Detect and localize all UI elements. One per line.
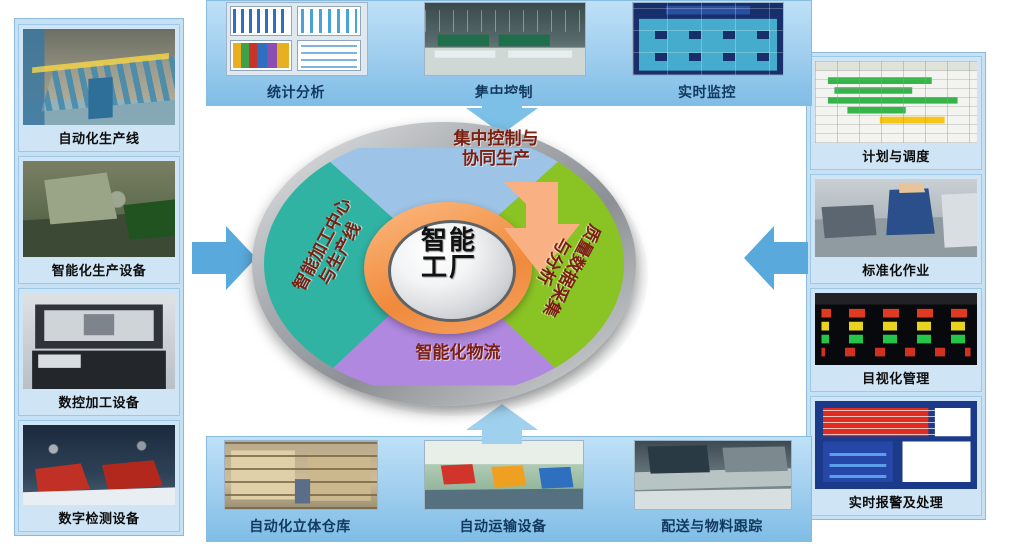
cnc-machine-icon bbox=[23, 293, 175, 389]
arrow-left-icon bbox=[744, 222, 808, 294]
dashboard-charts-icon bbox=[226, 2, 368, 76]
arrow-right-icon bbox=[192, 222, 256, 294]
right-panel-2-caption: 目视化管理 bbox=[815, 365, 977, 391]
bottom-panel-0[interactable]: 自动化立体仓库 bbox=[224, 440, 376, 538]
andon-board-icon bbox=[815, 293, 977, 365]
smart-equipment-icon bbox=[23, 161, 175, 257]
top-panel-2-caption: 实时监控 bbox=[632, 76, 782, 106]
right-panel-1-caption: 标准化作业 bbox=[815, 257, 977, 283]
left-panel-1-caption: 智能化生产设备 bbox=[23, 257, 175, 283]
smart-factory-wheel: 智能 工厂 集中控制与 协同生产 智能加工中心 与生产线 质量数据采集 与分析 … bbox=[248, 118, 648, 416]
top-panel-0[interactable]: 统计分析 bbox=[226, 2, 366, 102]
agv-icon bbox=[424, 440, 584, 510]
bottom-panel-2-caption: 配送与物料跟踪 bbox=[634, 510, 790, 540]
left-panel-0-caption: 自动化生产线 bbox=[23, 125, 175, 151]
production-line-icon bbox=[23, 29, 175, 125]
left-panel-2-caption: 数控加工设备 bbox=[23, 389, 175, 415]
top-panel-2[interactable]: 实时监控 bbox=[632, 2, 782, 102]
right-panel-1[interactable]: 标准化作业 bbox=[810, 174, 982, 284]
alarm-dashboard-icon bbox=[815, 401, 977, 489]
wheel-label-bottom: 智能化物流 bbox=[378, 344, 538, 364]
right-panel-3[interactable]: 实时报警及处理 bbox=[810, 396, 982, 516]
left-panel-3[interactable]: 数字检测设备 bbox=[18, 420, 180, 532]
bottom-panel-1-caption: 自动运输设备 bbox=[424, 510, 582, 540]
center-label: 智能 工厂 bbox=[388, 228, 510, 283]
top-panel-0-caption: 统计分析 bbox=[226, 76, 366, 106]
control-room-icon bbox=[424, 2, 586, 76]
wheel-label-top: 集中控制与 协同生产 bbox=[406, 130, 586, 169]
bottom-panel-0-caption: 自动化立体仓库 bbox=[224, 510, 376, 540]
center-label-line1: 智能 bbox=[388, 228, 510, 255]
standard-work-icon bbox=[815, 179, 977, 257]
warehouse-icon bbox=[224, 440, 378, 510]
left-panel-0[interactable]: 自动化生产线 bbox=[18, 24, 180, 152]
left-panel-1[interactable]: 智能化生产设备 bbox=[18, 156, 180, 284]
gantt-schedule-icon bbox=[815, 61, 977, 143]
inspection-device-icon bbox=[23, 425, 175, 505]
right-panel-0-caption: 计划与调度 bbox=[815, 143, 977, 169]
right-panel-0[interactable]: 计划与调度 bbox=[810, 56, 982, 170]
bottom-panel-2[interactable]: 配送与物料跟踪 bbox=[634, 440, 790, 538]
material-tracking-icon bbox=[634, 440, 792, 510]
center-label-line2: 工厂 bbox=[388, 255, 510, 282]
bottom-panel-1[interactable]: 自动运输设备 bbox=[424, 440, 582, 538]
monitoring-wall-icon bbox=[632, 2, 784, 76]
right-panel-3-caption: 实时报警及处理 bbox=[815, 489, 977, 515]
left-panel-3-caption: 数字检测设备 bbox=[23, 505, 175, 531]
left-panel-2[interactable]: 数控加工设备 bbox=[18, 288, 180, 416]
top-panel-1[interactable]: 集中控制 bbox=[424, 2, 584, 102]
right-panel-2[interactable]: 目视化管理 bbox=[810, 288, 982, 392]
